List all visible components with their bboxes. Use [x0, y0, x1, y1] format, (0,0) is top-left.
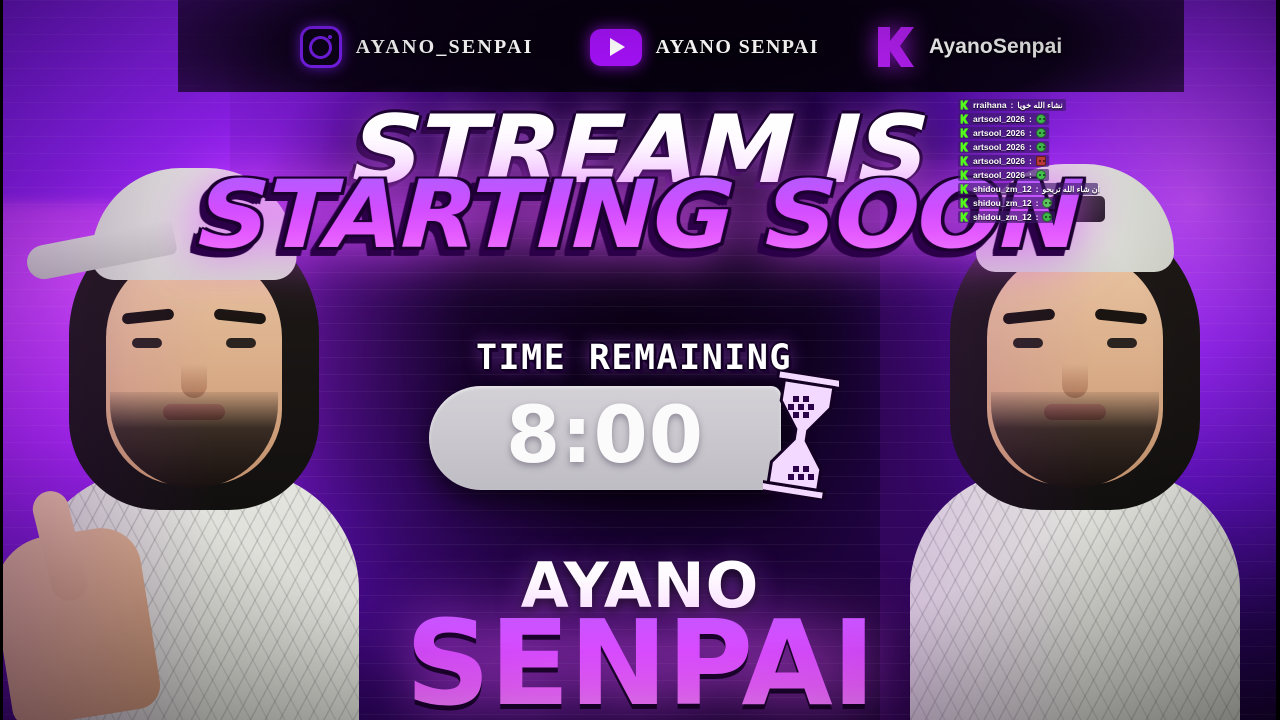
chat-username: shidou_zm_12: [973, 212, 1032, 222]
chat-emote-icon: [1036, 128, 1046, 138]
chat-separator: :: [1036, 184, 1039, 194]
stream-overlay-stage: AYANO_SENPAI AYANO SENPAI AyanoSenpai ST…: [0, 0, 1280, 720]
chat-username: artsool_2026: [973, 170, 1025, 180]
chat-separator: :: [1029, 156, 1032, 166]
chat-message: artsool_2026:: [958, 127, 1049, 139]
chat-username: artsool_2026: [973, 142, 1025, 152]
kick-badge-icon: [960, 114, 969, 124]
chat-overlay[interactable]: rraihana:نشاء الله خوياartsool_2026:arts…: [958, 99, 1098, 223]
kick-badge-icon: [960, 128, 969, 138]
instagram-icon: [300, 26, 342, 68]
chat-message: artsool_2026:: [958, 169, 1049, 181]
social-item-instagram[interactable]: AYANO_SENPAI: [300, 26, 534, 68]
chat-emote-icon: [1036, 142, 1046, 152]
timer-value: 8:00: [506, 391, 704, 481]
hourglass-icon: [763, 370, 839, 505]
youtube-handle: AYANO SENPAI: [656, 36, 819, 59]
chat-separator: :: [1011, 100, 1014, 110]
chat-message: artsool_2026:: [958, 141, 1049, 153]
chat-username: shidou_zm_12: [973, 184, 1032, 194]
timer-label: TIME REMAINING: [0, 338, 1274, 378]
chat-emote-icon: [1036, 114, 1046, 124]
chat-separator: :: [1029, 128, 1032, 138]
chat-message: rraihana:نشاء الله خويا: [958, 99, 1066, 111]
chat-message: shidou_zm_12:: [958, 197, 1055, 209]
kick-badge-icon: [960, 142, 969, 152]
social-handles-bar: AYANO_SENPAI AYANO SENPAI AyanoSenpai: [178, 0, 1184, 92]
kick-badge-icon: [960, 100, 969, 110]
kick-badge-icon: [960, 212, 969, 222]
kick-handle: AyanoSenpai: [929, 35, 1062, 59]
chat-separator: :: [1029, 114, 1032, 124]
chat-message: artsool_2026:: [958, 155, 1049, 167]
chat-message-text: نشاء الله خويا: [1017, 101, 1062, 110]
chat-username: shidou_zm_12: [973, 198, 1032, 208]
kick-badge-icon: [960, 198, 969, 208]
chat-separator: :: [1036, 198, 1039, 208]
brand-name-bottom: SENPAI: [0, 609, 1280, 718]
chat-username: artsool_2026: [973, 156, 1025, 166]
timer-row: 8:00: [0, 370, 1280, 505]
chat-emote-icon: [1042, 198, 1052, 208]
chat-separator: :: [1029, 170, 1032, 180]
chat-emote-icon: [1036, 170, 1046, 180]
chat-separator: :: [1029, 142, 1032, 152]
chat-separator: :: [1036, 212, 1039, 222]
chat-username: artsool_2026: [973, 128, 1025, 138]
branding-name-block: AYANO SENPAI: [0, 555, 1280, 718]
instagram-handle: AYANO_SENPAI: [356, 36, 534, 59]
kick-badge-icon: [960, 184, 969, 194]
kick-badge-icon: [960, 170, 969, 180]
chat-emote-icon: [1042, 212, 1052, 222]
timer-pill: 8:00: [429, 386, 781, 490]
chat-emote-icon: [1036, 156, 1046, 166]
chat-message: shidou_zm_12:: [958, 211, 1055, 223]
chat-username: rraihana: [973, 100, 1007, 110]
social-item-youtube[interactable]: AYANO SENPAI: [590, 29, 819, 66]
chat-message: artsool_2026:: [958, 113, 1049, 125]
timer-block: TIME REMAINING 8:00: [0, 338, 1280, 505]
kick-badge-icon: [960, 156, 969, 166]
youtube-icon: [590, 29, 642, 66]
chat-username: artsool_2026: [973, 114, 1025, 124]
chat-message: shidou_zm_12:ان شاء الله تربحو: [958, 183, 1098, 195]
social-item-kick[interactable]: AyanoSenpai: [875, 25, 1062, 69]
chat-message-text: ان شاء الله تربحو: [1042, 185, 1099, 194]
kick-icon: [875, 25, 915, 69]
